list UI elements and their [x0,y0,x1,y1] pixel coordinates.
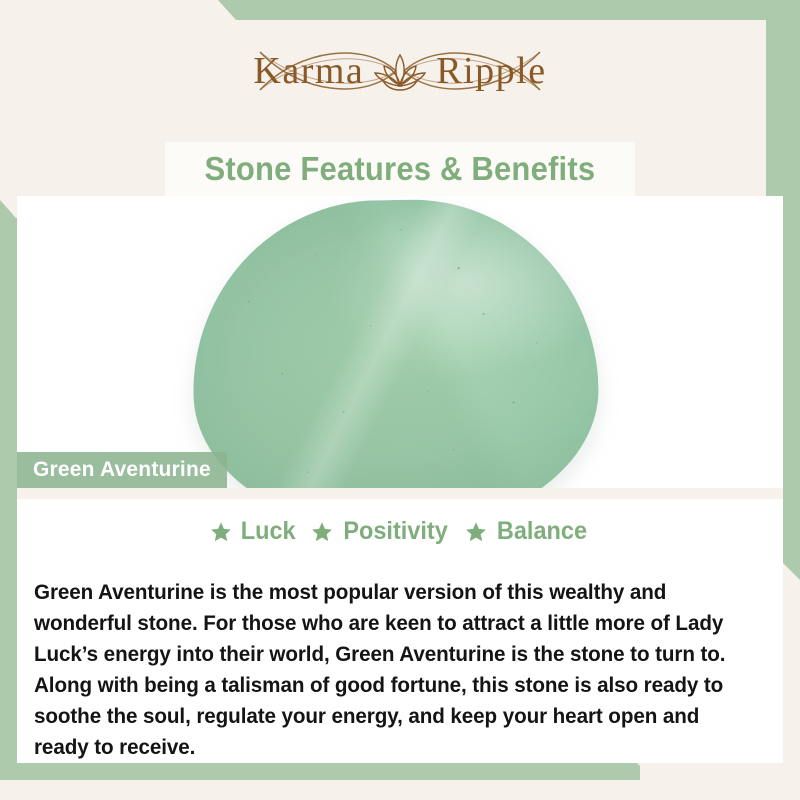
description-panel: Luck Positivity Balance Green Aventurine… [17,499,783,763]
brand-logo: Karma Ripple [0,28,800,114]
stone-description-text: Green Aventurine is the most popular ver… [34,577,742,763]
green-aventurine-stone-image [190,196,601,498]
lotus-icon [372,49,428,93]
star-icon [311,521,333,543]
benefit-item-positivity: Positivity [311,517,451,546]
benefit-item-luck: Luck [210,517,297,546]
frame-accent-top [0,0,800,20]
stone-name-label: Green Aventurine [33,458,211,482]
panel-divider [17,488,783,499]
benefit-label-luck: Luck [241,517,296,546]
brand-word-karma: Karma [253,49,364,93]
benefit-label-positivity: Positivity [343,517,447,546]
benefits-list: Luck Positivity Balance [17,517,783,546]
benefit-label-balance: Balance [497,517,587,546]
page-title: Stone Features & Benefits [205,150,596,188]
section-title-band: Stone Features & Benefits [165,142,635,196]
brand-word-ripple: Ripple [436,49,546,93]
poster-canvas: Karma Ripple Stone Features & Benefits [0,0,800,800]
stone-name-badge: Green Aventurine [17,452,227,488]
star-icon [465,521,487,543]
star-icon [210,521,232,543]
benefit-item-balance: Balance [465,517,590,546]
